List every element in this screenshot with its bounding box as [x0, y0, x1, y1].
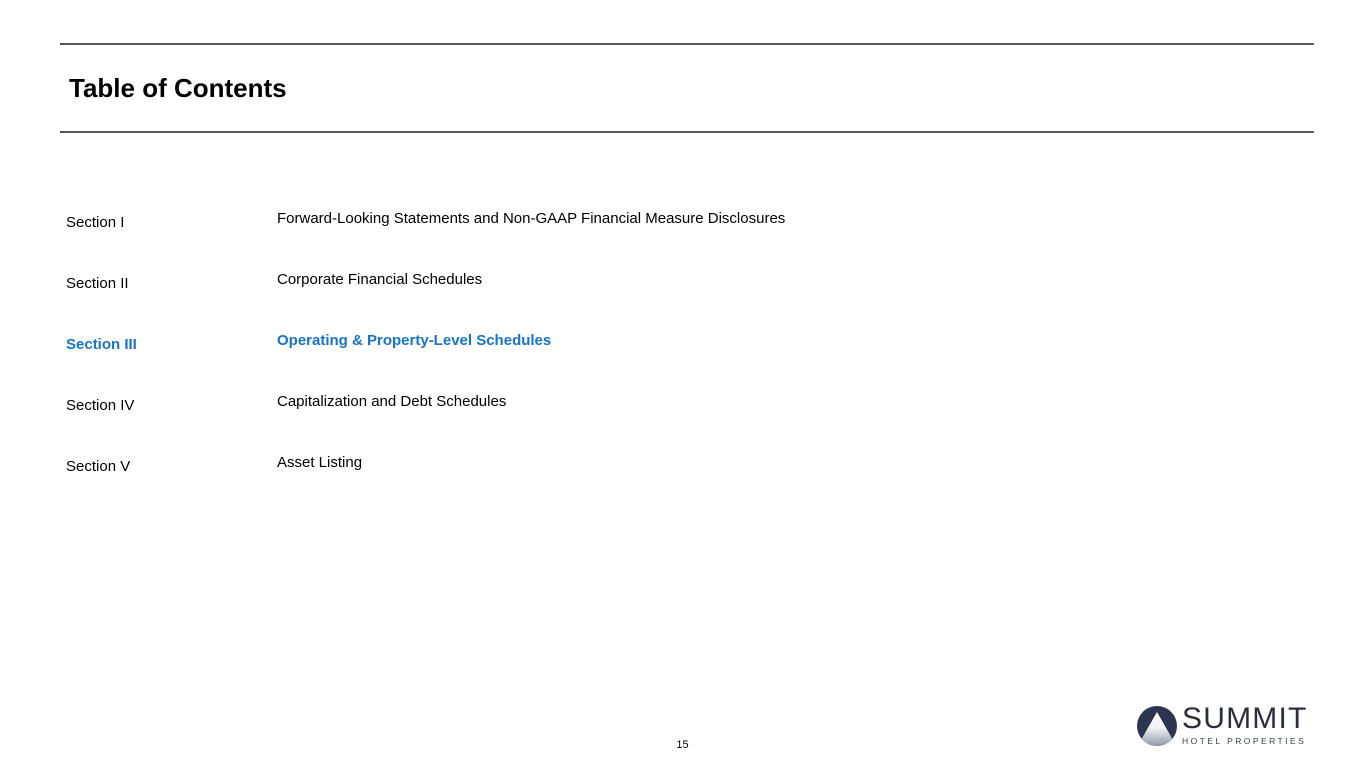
- toc-section-label: Section V: [66, 458, 130, 475]
- toc-row-active[interactable]: Section III Operating & Property-Level S…: [0, 318, 1365, 379]
- header-top-divider: [60, 43, 1314, 45]
- toc-section-description: Capitalization and Debt Schedules: [277, 393, 506, 410]
- toc-row[interactable]: Section II Corporate Financial Schedules: [0, 257, 1365, 318]
- toc-section-description: Asset Listing: [277, 454, 362, 471]
- toc-row[interactable]: Section V Asset Listing: [0, 440, 1365, 501]
- company-logo: SUMMIT HOTEL PROPERTIES: [1136, 703, 1316, 751]
- page-title: Table of Contents: [69, 73, 287, 104]
- toc-section-description: Operating & Property-Level Schedules: [277, 332, 551, 349]
- toc-section-label: Section II: [66, 275, 129, 292]
- toc-section-label: Section I: [66, 214, 124, 231]
- table-of-contents-list: Section I Forward-Looking Statements and…: [0, 196, 1365, 501]
- toc-section-label: Section IV: [66, 397, 134, 414]
- toc-section-label: Section III: [66, 336, 137, 353]
- toc-row[interactable]: Section I Forward-Looking Statements and…: [0, 196, 1365, 257]
- toc-section-description: Corporate Financial Schedules: [277, 271, 482, 288]
- header-bottom-divider: [60, 131, 1314, 133]
- logo-wordmark: SUMMIT: [1182, 703, 1316, 735]
- toc-section-description: Forward-Looking Statements and Non-GAAP …: [277, 210, 785, 227]
- toc-row[interactable]: Section IV Capitalization and Debt Sched…: [0, 379, 1365, 440]
- logo-text-block: SUMMIT HOTEL PROPERTIES: [1182, 703, 1316, 747]
- mountain-circle-icon: [1136, 705, 1178, 747]
- logo-tagline: HOTEL PROPERTIES: [1182, 736, 1316, 747]
